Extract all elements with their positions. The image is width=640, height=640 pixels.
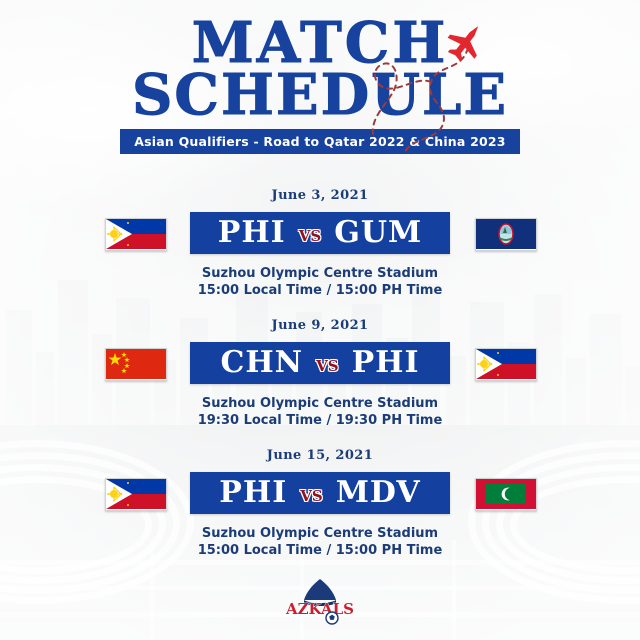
match-time: 15:00 Local Time / 15:00 PH Time (0, 542, 640, 559)
match-row: PHI VS GUM (0, 210, 640, 256)
flag-maldives-icon (475, 478, 537, 511)
venue-name: Suzhou Olympic Centre Stadium (0, 525, 640, 542)
match-card: June 15, 2021 (0, 448, 640, 559)
flag-philippines-icon (105, 218, 167, 251)
flag-china-icon (105, 348, 167, 381)
match-card: June 3, 2021 (0, 188, 640, 299)
match-time: 15:00 Local Time / 15:00 PH Time (0, 282, 640, 299)
match-date: June 15, 2021 (0, 448, 640, 463)
away-team-code: GUM (334, 218, 422, 248)
match-date: June 3, 2021 (0, 188, 640, 203)
venue-name: Suzhou Olympic Centre Stadium (0, 395, 640, 412)
flag-philippines-icon (105, 478, 167, 511)
match-schedule-poster: MATCH SCHEDULE Asian Qualifiers - Road t… (0, 0, 640, 640)
vs-label: VS (316, 359, 338, 374)
match-date: June 9, 2021 (0, 318, 640, 333)
matchup-bar: PHI VS MDV (190, 472, 450, 514)
flag-guam-icon (475, 218, 537, 251)
match-venue-time: Suzhou Olympic Centre Stadium 15:00 Loca… (0, 525, 640, 559)
venue-name: Suzhou Olympic Centre Stadium (0, 265, 640, 282)
vs-label: VS (300, 489, 322, 504)
footer-logo: AZKALS AZKALS (0, 577, 640, 634)
vs-label: VS (299, 229, 321, 244)
page-title-line2: SCHEDULE (132, 70, 508, 122)
match-card: June 9, 2021 CHN VS PHI (0, 318, 640, 429)
subtitle-banner: Asian Qualifiers - Road to Qatar 2022 & … (120, 129, 519, 154)
away-team-code: PHI (352, 348, 420, 378)
title-block: MATCH SCHEDULE (132, 18, 508, 121)
azkals-wordmark: AZKALS (285, 600, 354, 618)
match-time: 19:30 Local Time / 19:30 PH Time (0, 412, 640, 429)
match-venue-time: Suzhou Olympic Centre Stadium 15:00 Loca… (0, 265, 640, 299)
matchup-bar: CHN VS PHI (190, 342, 450, 384)
poster-header: MATCH SCHEDULE Asian Qualifiers - Road t… (0, 18, 640, 154)
home-team-code: CHN (220, 348, 303, 378)
matchup-bar: PHI VS GUM (190, 212, 450, 254)
azkals-crest-icon: AZKALS (284, 577, 356, 629)
match-row: PHI VS MDV (0, 470, 640, 516)
flag-philippines-icon (475, 348, 537, 381)
home-team-code: PHI (219, 478, 287, 508)
away-team-code: MDV (336, 478, 421, 508)
home-team-code: PHI (218, 218, 286, 248)
match-venue-time: Suzhou Olympic Centre Stadium 19:30 Loca… (0, 395, 640, 429)
match-row: CHN VS PHI (0, 340, 640, 386)
